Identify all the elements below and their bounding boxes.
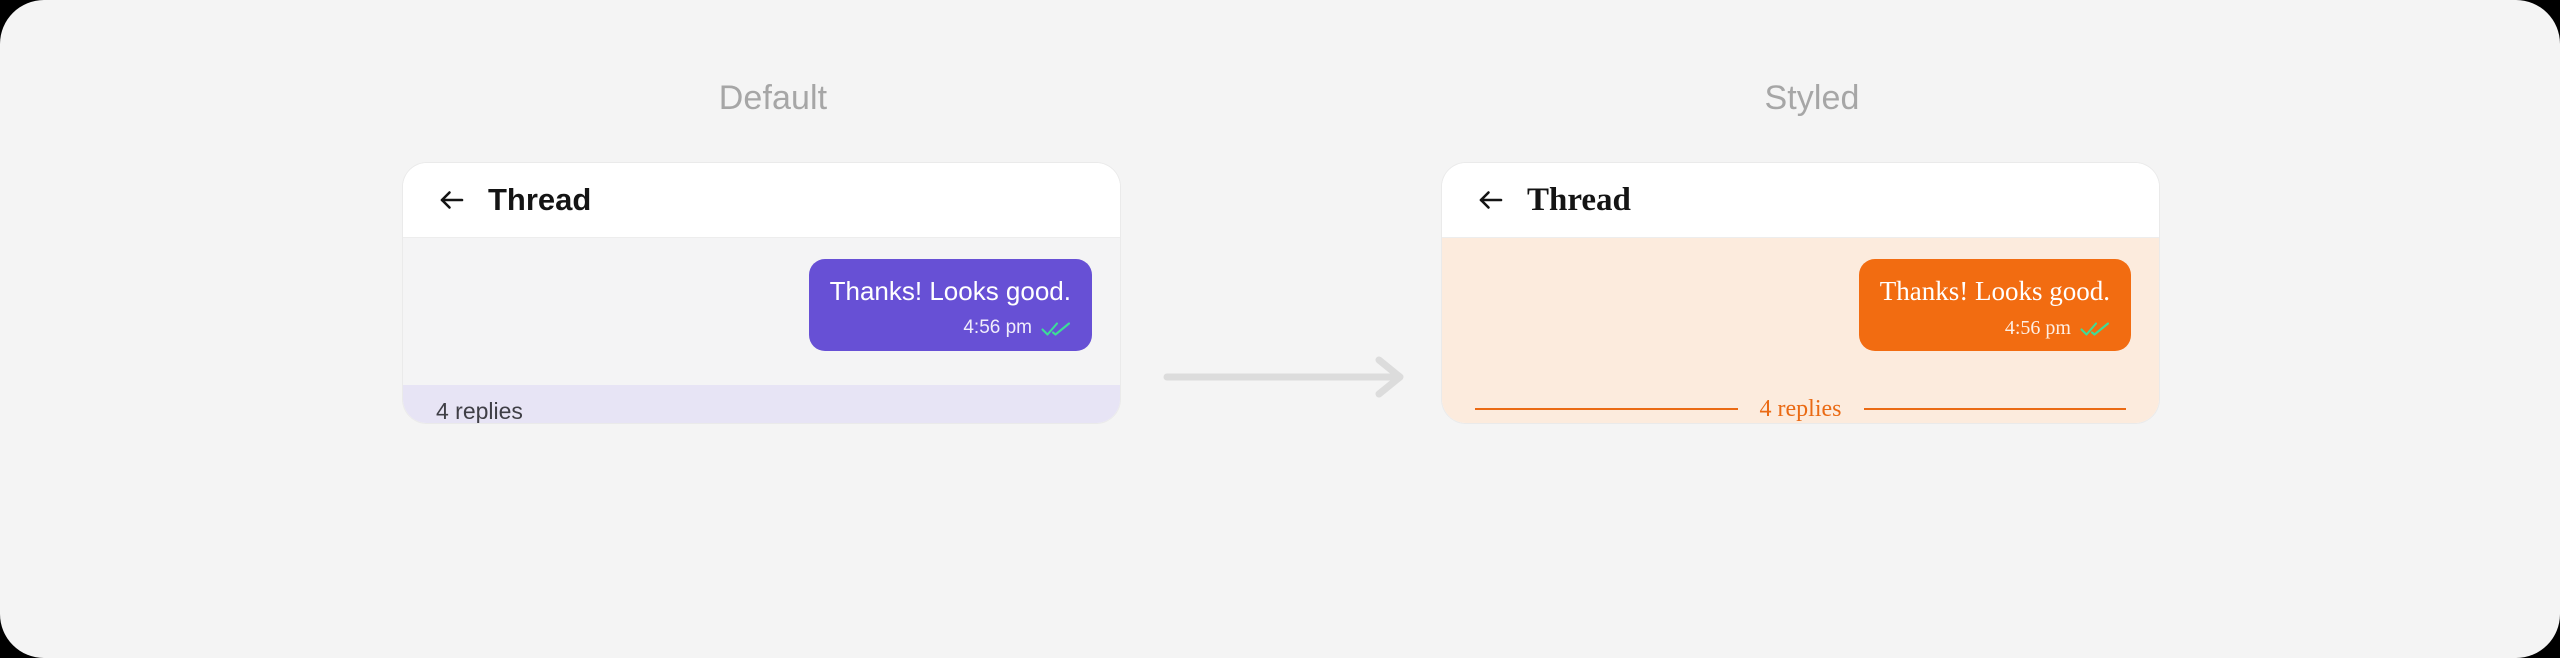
replies-count-label: 4 replies — [436, 398, 523, 424]
message-text: Thanks! Looks good. — [1880, 275, 2110, 307]
screenshot-canvas: Default Thread Thanks! Looks good. 4:56 … — [0, 0, 2560, 658]
panel-title-default: Default — [403, 78, 1143, 118]
message-bubble-default[interactable]: Thanks! Looks good. 4:56 pm — [809, 259, 1092, 351]
thread-card-styled: Thread Thanks! Looks good. 4:56 pm — [1442, 163, 2159, 423]
message-text: Thanks! Looks good. — [830, 275, 1071, 307]
message-row-styled: Thanks! Looks good. 4:56 pm — [1442, 238, 2159, 351]
message-meta: 4:56 pm — [830, 317, 1071, 339]
arrow-left-icon[interactable] — [436, 184, 468, 216]
replies-divider-styled[interactable]: 4 replies — [1475, 387, 2126, 423]
arrow-right-icon — [1161, 355, 1411, 399]
message-timestamp: 4:56 pm — [963, 317, 1032, 339]
card-header-default: Thread — [403, 163, 1120, 238]
card-header-styled: Thread — [1442, 163, 2159, 238]
replies-rule-left — [1475, 408, 1738, 410]
message-timestamp: 4:56 pm — [2005, 317, 2071, 339]
card-body-styled: Thanks! Looks good. 4:56 pm 4 replies — [1442, 238, 2159, 423]
card-title-default: Thread — [488, 183, 591, 217]
panel-title-styled: Styled — [1442, 78, 2182, 118]
arrow-left-icon[interactable] — [1475, 184, 1507, 216]
double-check-icon — [1041, 320, 1071, 337]
replies-rule-right — [1864, 408, 2127, 410]
message-row-default: Thanks! Looks good. 4:56 pm — [403, 238, 1120, 351]
message-meta: 4:56 pm — [1880, 317, 2110, 339]
replies-count-label: 4 replies — [1760, 395, 1842, 423]
message-bubble-styled[interactable]: Thanks! Looks good. 4:56 pm — [1859, 259, 2131, 351]
card-title-styled: Thread — [1527, 183, 1631, 217]
replies-divider-default[interactable]: 4 replies — [403, 385, 1120, 423]
thread-card-default: Thread Thanks! Looks good. 4:56 pm — [403, 163, 1120, 423]
card-body-default: Thanks! Looks good. 4:56 pm 4 replies — [403, 238, 1120, 423]
double-check-icon — [2080, 320, 2110, 337]
